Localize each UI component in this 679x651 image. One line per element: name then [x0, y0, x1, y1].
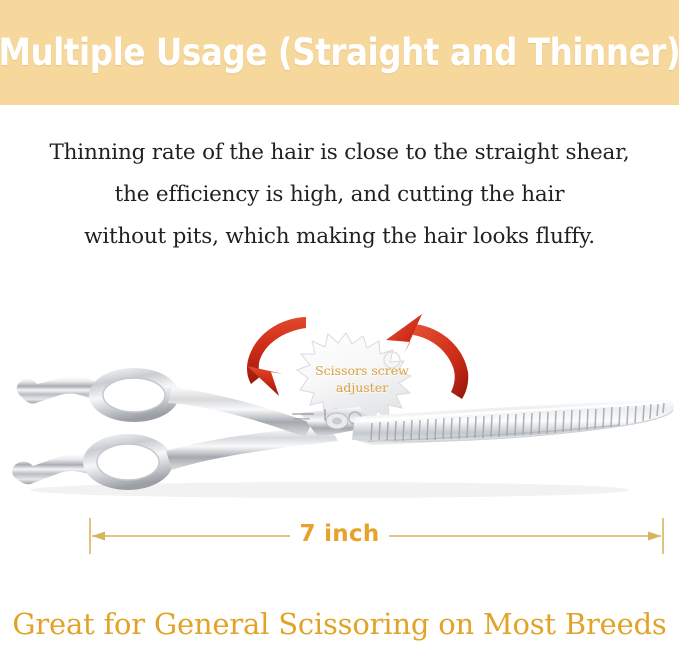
description-paragraph: Thinning rate of the hair is close to th…	[0, 132, 679, 258]
description-line-2: the efficiency is high, and cutting the …	[0, 174, 679, 216]
footer-tagline: Great for General Scissoring on Most Bre…	[0, 607, 679, 641]
description-line-3: without pits, which making the hair look…	[0, 216, 679, 258]
description-line-1: Thinning rate of the hair is close to th…	[0, 132, 679, 174]
dimension-label: 7 inch	[0, 521, 679, 547]
page-title: Multiple Usage (Straight and Thinner)	[0, 31, 679, 74]
dimension-label-text: 7 inch	[290, 521, 388, 547]
product-photo-thinning-shears	[0, 365, 679, 505]
dimension-measure-7-inch: 7 inch	[0, 508, 679, 570]
header-banner: Multiple Usage (Straight and Thinner)	[0, 0, 679, 105]
